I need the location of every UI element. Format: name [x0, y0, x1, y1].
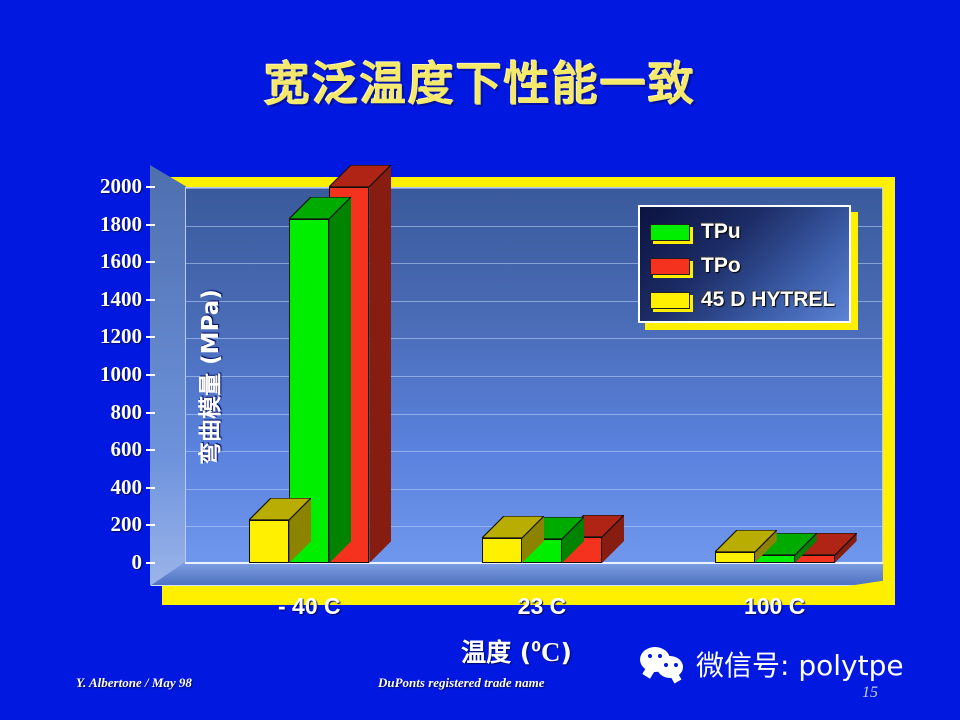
legend-label: TPo	[701, 254, 741, 278]
y-tick-mark	[146, 487, 155, 489]
page-title: 宽泛温度下性能一致	[0, 48, 960, 114]
y-tick-mark	[146, 224, 155, 226]
bar-front-face	[249, 520, 289, 563]
y-tick-label: 2000	[32, 174, 142, 199]
y-tick-mark	[146, 336, 155, 338]
x-tick-label-2: 100 C	[675, 593, 875, 620]
legend-swatch	[650, 258, 690, 275]
axis-side-wall	[150, 165, 187, 585]
footer-author: Y. Albertone / May 98	[76, 675, 192, 691]
y-tick-mark	[146, 449, 155, 451]
legend-label: TPu	[701, 220, 741, 244]
bar-front-face	[482, 538, 522, 563]
y-tick-mark	[146, 186, 155, 188]
legend-entry-tpu[interactable]: TPu	[650, 215, 849, 249]
chart-legend: TPuTPo45 D HYTREL	[638, 205, 858, 330]
chart-container: 0200400600800100012001400160018002000 弯曲…	[150, 165, 895, 605]
y-tick-mark	[146, 412, 155, 414]
page-number: 15	[862, 684, 878, 702]
x-tick-label-0: - 40 C	[209, 593, 409, 620]
y-tick-label: 0	[32, 550, 142, 575]
bar-side-face	[369, 165, 391, 563]
y-tick-mark	[146, 524, 155, 526]
gridline	[186, 188, 882, 189]
legend-entry-45-d-hytrel[interactable]: 45 D HYTREL	[650, 283, 849, 317]
watermark-text: 微信号: polytpe	[696, 644, 904, 684]
bar-45-d-hytrel-0	[249, 520, 289, 563]
plot-floor	[150, 562, 883, 586]
y-tick-label: 1800	[32, 212, 142, 237]
y-tick-label: 600	[32, 437, 142, 462]
legend-box: TPuTPo45 D HYTREL	[638, 205, 851, 323]
wechat-icon	[640, 647, 686, 681]
y-tick-label: 1600	[32, 249, 142, 274]
y-tick-label: 800	[32, 400, 142, 425]
y-axis-label: 弯曲模量 (MPa)	[191, 247, 225, 507]
legend-swatch	[650, 224, 690, 241]
y-tick-label: 400	[32, 475, 142, 500]
y-tick-mark	[146, 374, 155, 376]
slide-canvas: 宽泛温度下性能一致 020040060080010001200140016001…	[0, 0, 960, 720]
bar-side-face	[329, 197, 351, 563]
y-tick-label: 1200	[32, 324, 142, 349]
bar-45-d-hytrel-2	[715, 552, 755, 563]
y-tick-mark	[146, 299, 155, 301]
y-tick-label: 1400	[32, 287, 142, 312]
y-tick-mark	[146, 562, 155, 564]
bar-45-d-hytrel-1	[482, 538, 522, 563]
footer-trademark: DuPonts registered trade name	[378, 675, 544, 691]
bar-front-face	[715, 552, 755, 563]
y-tick-mark	[146, 261, 155, 263]
legend-entry-tpo[interactable]: TPo	[650, 249, 849, 283]
legend-label: 45 D HYTREL	[701, 288, 835, 312]
watermark: 微信号: polytpe	[640, 644, 904, 684]
legend-swatch	[650, 292, 690, 309]
x-tick-label-1: 23 C	[442, 593, 642, 620]
y-tick-label: 200	[32, 512, 142, 537]
y-tick-label: 1000	[32, 362, 142, 387]
